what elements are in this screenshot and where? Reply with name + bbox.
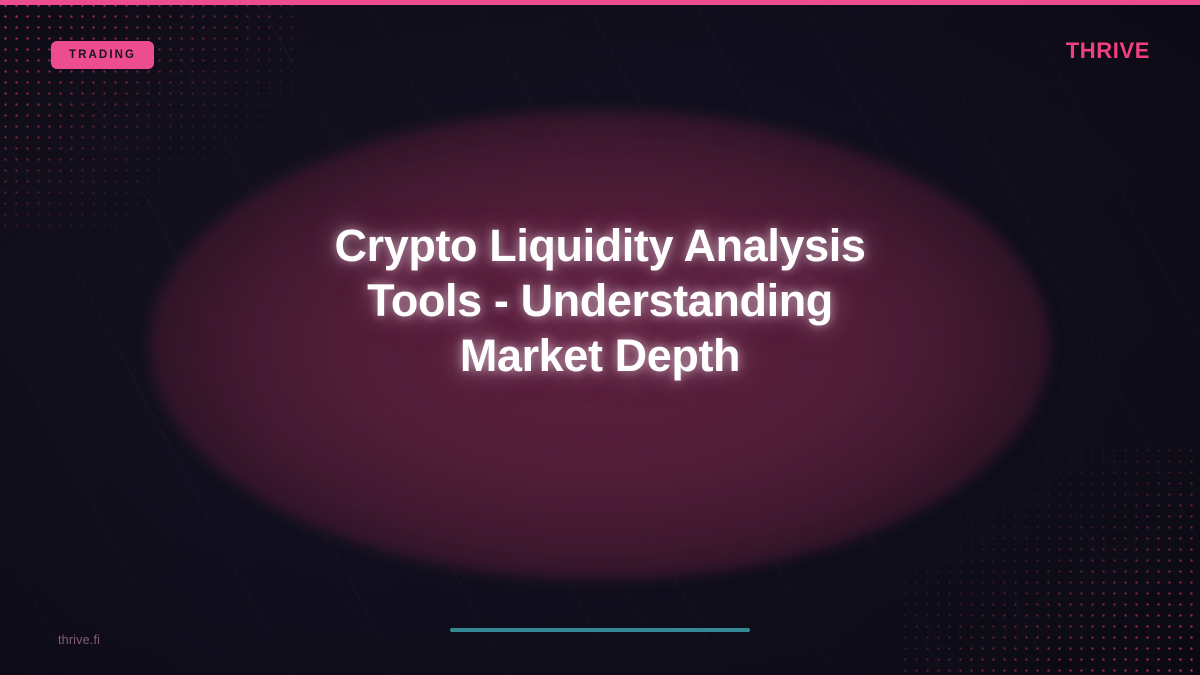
title-line-3: Market Depth bbox=[460, 330, 740, 381]
title-line-1: Crypto Liquidity Analysis bbox=[335, 220, 866, 271]
bottom-accent-line bbox=[450, 628, 750, 632]
slide-title: Crypto Liquidity Analysis Tools - Unders… bbox=[280, 218, 920, 383]
presentation-slide: TRADING THRIVE Crypto Liquidity Analysis… bbox=[0, 0, 1200, 675]
title-container: Crypto Liquidity Analysis Tools - Unders… bbox=[0, 218, 1200, 383]
category-badge[interactable]: TRADING bbox=[51, 41, 154, 69]
dot-grid-bottom-right bbox=[900, 445, 1200, 675]
top-accent-bar bbox=[0, 0, 1200, 5]
dot-grid-top-left bbox=[0, 0, 300, 230]
site-watermark: thrive.fi bbox=[58, 633, 100, 647]
title-line-2: Tools - Understanding bbox=[367, 275, 833, 326]
brand-logo[interactable]: THRIVE bbox=[1066, 38, 1150, 64]
